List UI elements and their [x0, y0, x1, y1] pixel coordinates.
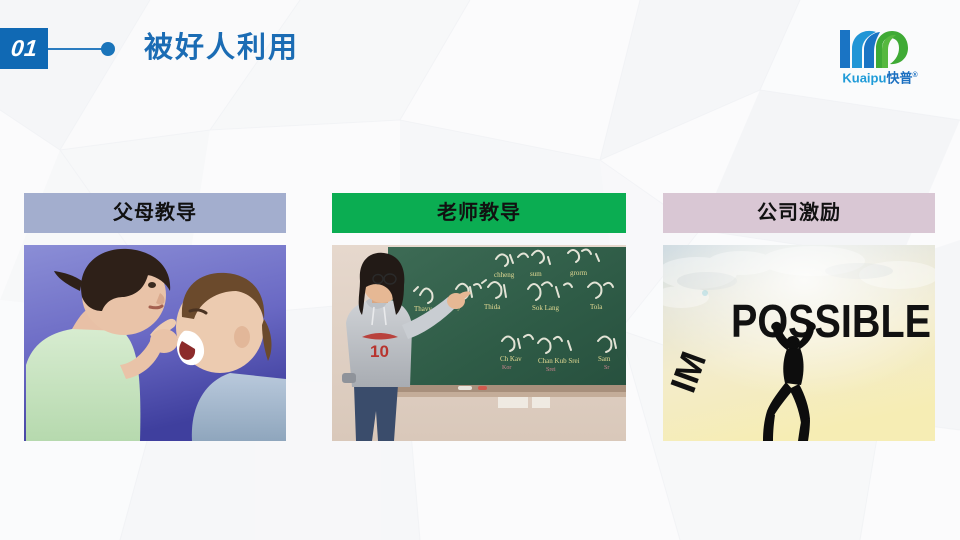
slide-canvas: 01 被好人利用 Kuaipu快普® 父母教导: [0, 0, 960, 540]
connector-dot-icon: [101, 42, 115, 56]
logo-wordmark: Kuaipu快普®: [824, 68, 936, 86]
card-parents-teaching[interactable]: 父母教导: [24, 193, 286, 441]
logo-latin-text: Kuaipu: [842, 70, 886, 85]
svg-text:Kor: Kor: [502, 365, 511, 371]
page-title: 被好人利用: [144, 28, 299, 69]
card-company-motivation[interactable]: 公司激励: [663, 193, 935, 441]
svg-text:Sok Lang: Sok Lang: [532, 304, 560, 312]
mother-scolding-boy-photo: [24, 245, 286, 441]
svg-text:Tola: Tola: [590, 303, 603, 311]
teacher-at-blackboard-photo: chheng sum grorm Thavy Sny Thida Sok Lan…: [332, 245, 626, 441]
svg-text:10: 10: [370, 342, 389, 361]
svg-text:chheng: chheng: [494, 271, 515, 279]
svg-text:Sam: Sam: [598, 355, 611, 363]
connector-line: [48, 48, 105, 50]
svg-text:Srei: Srei: [546, 367, 556, 373]
section-number-badge: 01: [0, 28, 48, 69]
svg-text:Thida: Thida: [484, 303, 501, 311]
svg-text:Chan Kub Srei: Chan Kub Srei: [538, 357, 580, 365]
svg-text:Sr: Sr: [604, 365, 609, 371]
svg-text:sum: sum: [530, 270, 542, 278]
kuaipu-logo-mark: [838, 26, 912, 70]
company-logo: Kuaipu快普®: [824, 26, 936, 88]
logo-chinese-text: 快普: [886, 70, 912, 85]
card-title-1: 父母教导: [113, 203, 197, 223]
svg-text:grorm: grorm: [570, 269, 588, 277]
impossible-possible-photo: POSSIBLE IM: [663, 245, 935, 441]
card-title-2: 老师教导: [437, 203, 521, 223]
slide-header: 01 被好人利用 Kuaipu快普®: [0, 0, 960, 100]
card-title-3: 公司激励: [757, 203, 841, 223]
registered-mark-icon: ®: [912, 72, 917, 79]
section-number-label: 01: [9, 37, 38, 60]
card-header-1: 父母教导: [24, 193, 286, 233]
card-header-3: 公司激励: [663, 193, 935, 233]
card-header-2: 老师教导: [332, 193, 626, 233]
svg-text:Ch Kav: Ch Kav: [500, 355, 522, 363]
possible-word: POSSIBLE: [731, 295, 931, 347]
card-teacher-teaching[interactable]: 老师教导: [332, 193, 626, 441]
